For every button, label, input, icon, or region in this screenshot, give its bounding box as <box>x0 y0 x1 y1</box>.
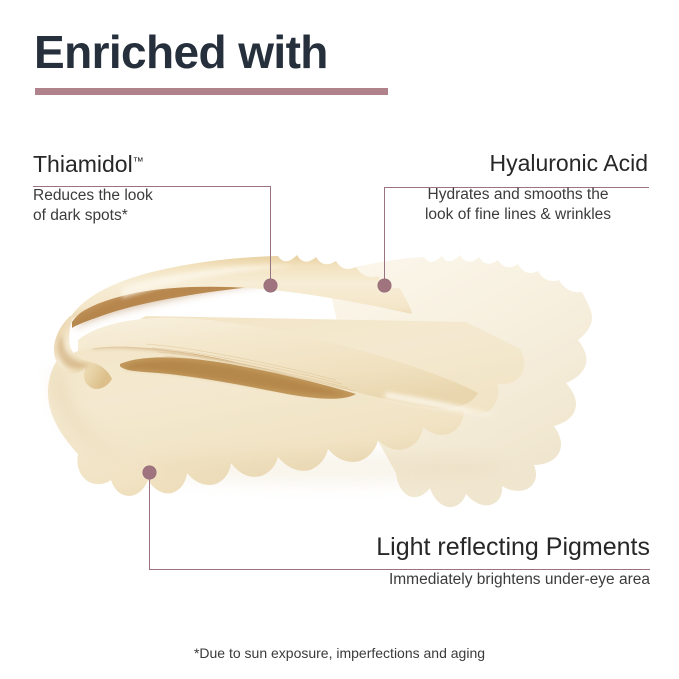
leader-line-hyaluronic-vertical <box>384 187 385 280</box>
callout-pigments-heading: Light reflecting Pigments <box>320 534 650 562</box>
page-title: Enriched with <box>34 26 328 79</box>
callout-thiamidol: Thiamidol™ Reduces the look of dark spot… <box>33 152 153 226</box>
callout-hyaluronic: Hyaluronic Acid Hydrates and smooths the… <box>388 151 648 225</box>
trademark-symbol: ™ <box>133 156 144 168</box>
title-underline-rule <box>35 88 388 95</box>
cream-swatch-svg <box>26 252 626 520</box>
swatch-ground-shadow <box>146 452 506 484</box>
callout-pigments: Light reflecting Pigments Immediately br… <box>320 534 650 590</box>
leader-line-pigments-vertical <box>149 472 150 570</box>
callout-hyaluronic-body: Hydrates and smooths the look of fine li… <box>388 185 648 225</box>
leader-dot-hyaluronic <box>378 279 391 292</box>
callout-thiamidol-heading: Thiamidol™ <box>33 152 153 177</box>
callout-hyaluronic-heading: Hyaluronic Acid <box>388 151 648 176</box>
cream-swatch-image <box>26 252 626 520</box>
callout-thiamidol-body: Reduces the look of dark spots* <box>33 186 153 226</box>
footnote-disclaimer: *Due to sun exposure, imperfections and … <box>0 645 679 661</box>
leader-line-thiamidol-vertical <box>270 186 271 280</box>
infographic-canvas: Enriched with <box>0 0 679 679</box>
leader-dot-thiamidol <box>264 279 277 292</box>
callout-pigments-body: Immediately brightens under-eye area <box>320 570 650 590</box>
callout-thiamidol-heading-text: Thiamidol <box>33 151 133 177</box>
